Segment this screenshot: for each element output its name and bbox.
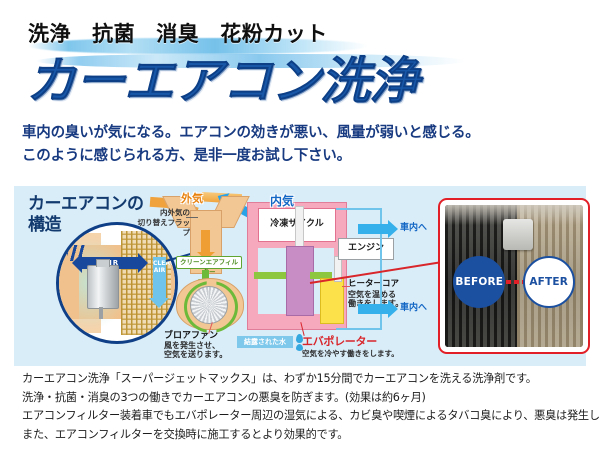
- water-drop-icon: [296, 334, 303, 343]
- before-after-photo-card: BEFORE AFTER: [438, 198, 590, 354]
- label-blower-title: ブロアファン: [164, 332, 234, 341]
- advertisement-page: 洗浄 抗菌 消臭 花粉カット カーエアコン洗浄 車内の臭いが気になる。エアコンの…: [0, 0, 600, 450]
- magnifier-clean-air-label: CLEAN AIR: [153, 257, 166, 274]
- condensed-water-badge: 結露された水: [237, 336, 293, 348]
- body-copy-line-3: エアコンフィルター装着車でもエバポレーター周辺の湿気による、カビ臭や喫煙によるタ…: [22, 407, 588, 426]
- keyword-deodorize: 消臭: [156, 18, 199, 48]
- body-copy-line-1: カーエアコン洗浄「スーパージェットマックス」は、わずか15分間でカーエアコンを洗…: [22, 370, 588, 389]
- before-label: BEFORE: [455, 276, 503, 288]
- magnifier-content: AIR CLEAN AIR: [59, 225, 175, 341]
- body-copy: カーエアコン洗浄「スーパージェットマックス」は、わずか15分間でカーエアコンを洗…: [22, 370, 588, 444]
- page-title: カーエアコン洗浄: [26, 52, 418, 110]
- airflow-down-arrow-icon: [201, 230, 210, 252]
- label-air-selection-flap: 内外気の 切り替えフラップ: [132, 208, 190, 238]
- magnifier-clean-air-arrow-icon: CLEAN AIR: [153, 257, 166, 299]
- photo-mounting-clip: [503, 219, 533, 250]
- blower-fan-icon: [190, 286, 228, 324]
- keyword-row: 洗浄 抗菌 消臭 花粉カット: [28, 18, 448, 52]
- label-blower-desc-2: 空気を送ります。: [164, 350, 234, 359]
- label-condensed-water: 結露された水: [237, 336, 293, 348]
- subtitle-line-1: 車内の臭いが気になる。エアコンの効きが悪い、風量が弱いと感じる。: [22, 122, 582, 145]
- magnifier-filter-stem: [99, 307, 103, 319]
- filter-magnifier-circle: AIR CLEAN AIR: [56, 222, 178, 344]
- label-flap-line-1: 内外気の: [132, 208, 190, 218]
- label-clean-air-filter: クリーンエアフィルター: [177, 257, 241, 277]
- after-label: AFTER: [529, 276, 568, 288]
- clean-air-filter-box: クリーンエアフィルター: [176, 256, 242, 269]
- subtitle-line-2: このように感じられる方、是非一度お試し下さい。: [22, 145, 582, 168]
- cabin-outlet-arrow-1-icon: [358, 224, 388, 234]
- keyword-pollen-cut: 花粉カット: [220, 18, 328, 48]
- water-drop-2-icon: [296, 344, 303, 351]
- before-badge: BEFORE: [453, 256, 505, 308]
- label-to-cabin-2: 車内へ: [400, 300, 427, 313]
- keyword-cleaning: 洗浄: [28, 18, 71, 48]
- diagram-panel: カーエアコンの 構造 AIR CLEAN AIR: [14, 186, 586, 366]
- after-badge: AFTER: [523, 256, 575, 308]
- label-evaporator-desc: 空気を冷やす働きをします。: [302, 348, 422, 360]
- label-flap-line-2: 切り替えフラップ: [132, 218, 190, 238]
- cabin-outlet-arrow-2-icon: [358, 304, 388, 314]
- flap-leader-line: [186, 217, 198, 218]
- evaporator-photo: BEFORE AFTER: [445, 205, 583, 347]
- subtitle: 車内の臭いが気になる。エアコンの効きが悪い、風量が弱いと感じる。 このように感じ…: [22, 122, 582, 168]
- label-inside-air: 内気: [270, 192, 294, 209]
- airflow-path-left: [254, 272, 290, 279]
- title-wrapper: カーエアコン洗浄: [26, 52, 566, 114]
- keyword-antibacterial: 抗菌: [92, 18, 135, 48]
- label-blower-fan: ブロアファン 風を発生させ、 空気を送ります。: [164, 332, 234, 359]
- body-copy-line-4: また、エアコンフィルターを交換時に施工するとより効果的です。: [22, 426, 588, 445]
- label-evaporator-title: エバポレーター: [302, 335, 377, 348]
- label-outside-air: 外気: [181, 190, 203, 206]
- body-copy-line-2: 洗浄・抗菌・消臭の3つの働きでカーエアコンの悪臭を防ぎます。(効果は約6ヶ月): [22, 389, 588, 408]
- label-blower-desc-1: 風を発生させ、: [164, 341, 234, 350]
- label-to-cabin-1: 車内へ: [400, 220, 427, 233]
- magnifier-filter-cartridge: [87, 265, 119, 309]
- label-evaporator: エバポレーター 空気を冷やす働きをします。: [302, 336, 422, 360]
